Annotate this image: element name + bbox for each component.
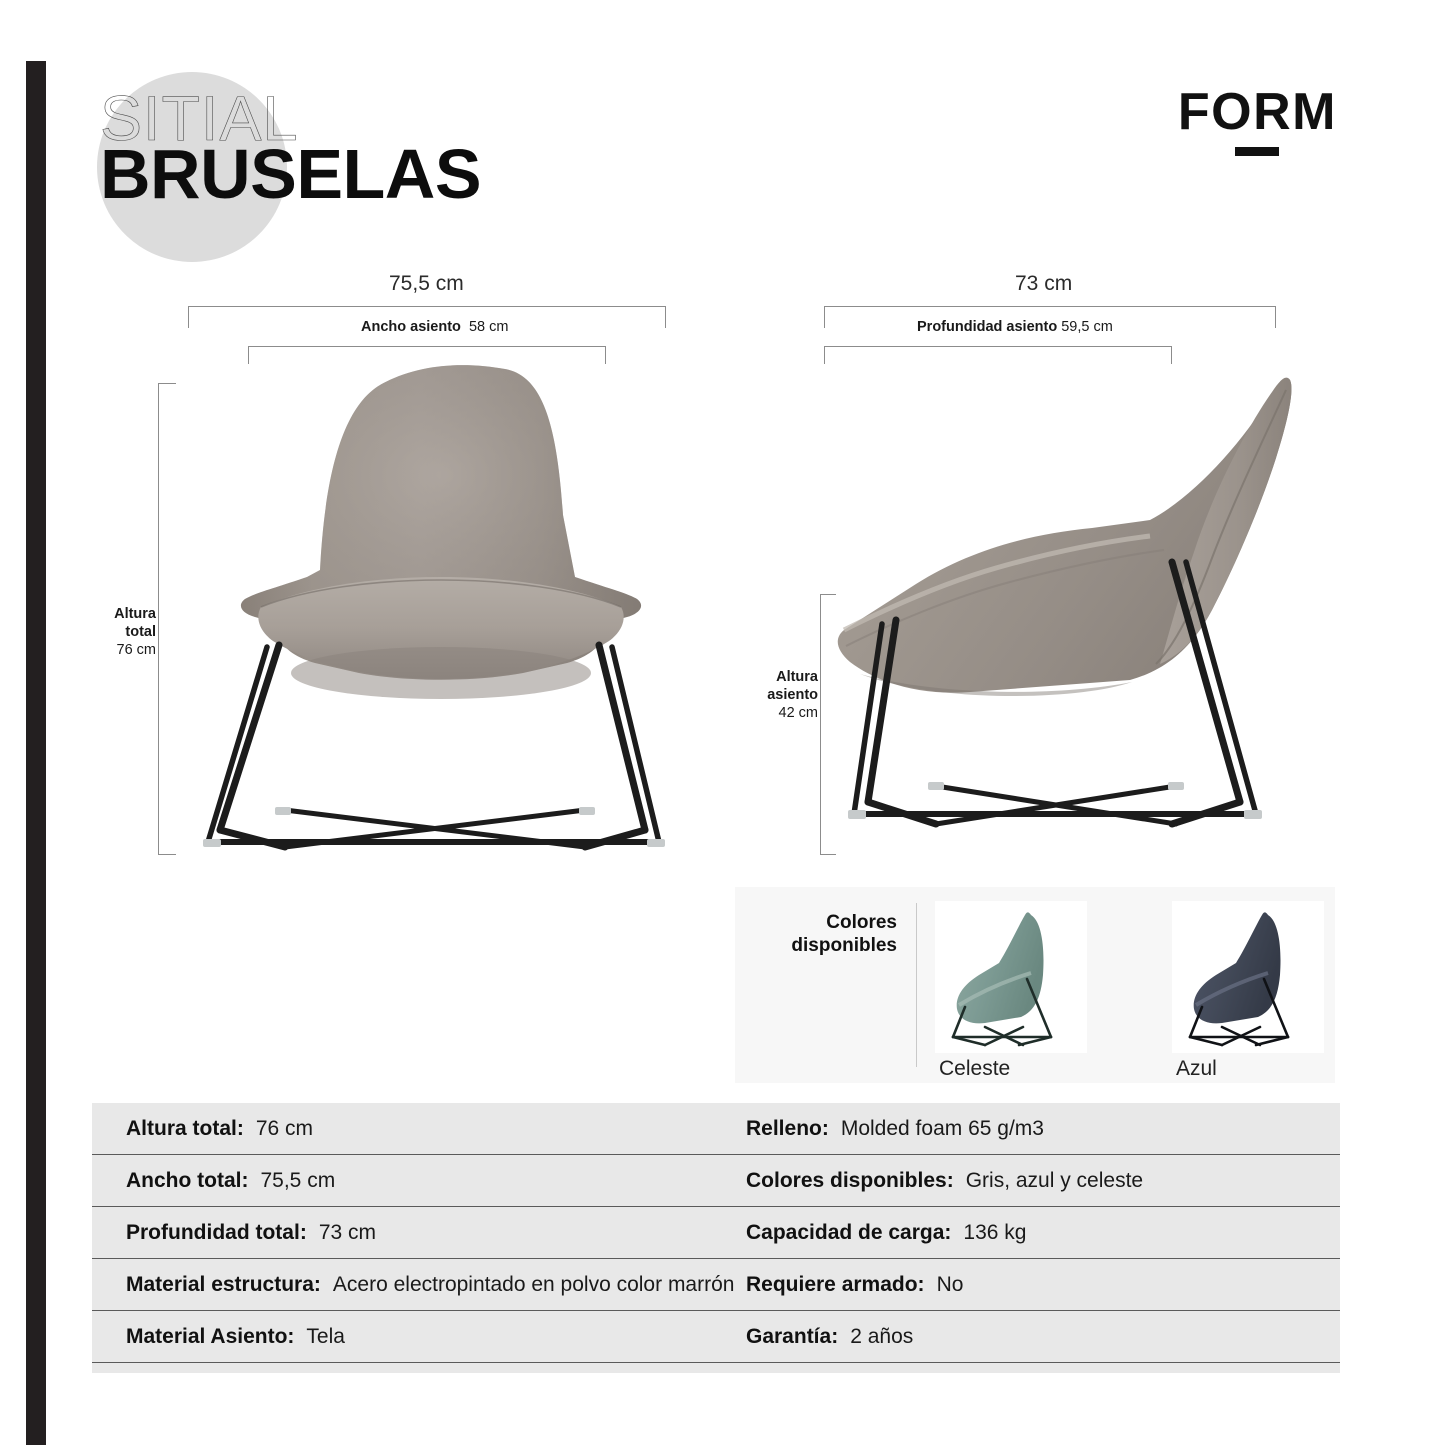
spec-cell-right: Relleno: Molded foam 65 g/m3 (716, 1103, 1340, 1154)
spec-key: Requiere armado: (746, 1273, 925, 1297)
color-swatch-celeste[interactable]: Celeste (935, 901, 1087, 1081)
available-colors-panel: Colores disponibles (735, 887, 1335, 1083)
left-accent-bar (26, 61, 46, 1445)
spec-key: Garantía: (746, 1325, 838, 1349)
front-total-width-label: 75,5 cm (389, 272, 464, 296)
side-total-depth-label: 73 cm (1015, 272, 1072, 296)
celeste-label: Celeste (935, 1057, 1087, 1081)
spec-value: Gris, azul y celeste (966, 1169, 1143, 1193)
page-title: SITIAL BRUSELAS (100, 88, 481, 209)
table-row: Profundidad total: 73 cm Capacidad de ca… (92, 1207, 1340, 1259)
color-swatch-azul[interactable]: Azul (1172, 901, 1324, 1081)
spec-cell-left: Ancho total: 75,5 cm (92, 1155, 716, 1206)
specification-table: Altura total: 76 cm Relleno: Molded foam… (92, 1103, 1340, 1373)
spec-key: Capacidad de carga: (746, 1221, 951, 1245)
product-name-label: BRUSELAS (100, 139, 481, 209)
spec-cell-left: Material Asiento: Tela (92, 1311, 716, 1362)
spec-cell-left: Altura total: 76 cm (92, 1103, 716, 1154)
spec-key: Relleno: (746, 1117, 829, 1141)
spec-value: Tela (306, 1325, 345, 1349)
azul-chair-thumbnail (1172, 901, 1324, 1053)
spec-value: Molded foam 65 g/m3 (841, 1117, 1044, 1141)
celeste-chair-thumbnail (935, 901, 1087, 1053)
spec-value: 2 años (850, 1325, 913, 1349)
table-row: Ancho total: 75,5 cm Colores disponibles… (92, 1155, 1340, 1207)
spec-value: Acero electropintado en polvo color marr… (333, 1273, 735, 1297)
front-chair-illustration (175, 355, 685, 865)
table-bottom-padding (92, 1363, 1340, 1373)
spec-key: Altura total: (126, 1117, 244, 1141)
spec-value: 75,5 cm (260, 1169, 335, 1193)
spec-key: Material Asiento: (126, 1325, 294, 1349)
spec-cell-right: Colores disponibles: Gris, azul y celest… (716, 1155, 1340, 1206)
side-seat-depth-label: Profundidad asiento 59,5 cm (917, 319, 1113, 335)
spec-cell-right: Requiere armado: No (716, 1259, 1340, 1310)
brand-underline-icon (1235, 147, 1279, 156)
front-seat-width-label: Ancho asiento 58 cm (361, 319, 508, 335)
spec-key: Ancho total: (126, 1169, 248, 1193)
spec-cell-right: Capacidad de carga: 136 kg (716, 1207, 1340, 1258)
front-total-height-label: Altura total 76 cm (78, 605, 156, 659)
side-seat-height-label: Altura asiento 42 cm (740, 668, 818, 722)
spec-key: Material estructura: (126, 1273, 321, 1297)
spec-value: 76 cm (256, 1117, 313, 1141)
front-total-height-bracket (158, 383, 176, 855)
table-row: Material Asiento: Tela Garantía: 2 años (92, 1311, 1340, 1363)
table-row: Material estructura: Acero electropintad… (92, 1259, 1340, 1311)
available-colors-title: Colores disponibles (749, 911, 897, 957)
brand-name-label: FORM (1178, 86, 1337, 138)
brand-logo: FORM (1178, 86, 1337, 156)
spec-cell-left: Profundidad total: 73 cm (92, 1207, 716, 1258)
spec-cell-left: Material estructura: Acero electropintad… (92, 1259, 716, 1310)
colors-divider (916, 903, 917, 1067)
spec-key: Colores disponibles: (746, 1169, 954, 1193)
azul-label: Azul (1172, 1057, 1324, 1081)
spec-value: 73 cm (319, 1221, 376, 1245)
spec-key: Profundidad total: (126, 1221, 307, 1245)
spec-value: No (937, 1273, 964, 1297)
table-row: Altura total: 76 cm Relleno: Molded foam… (92, 1103, 1340, 1155)
spec-value: 136 kg (963, 1221, 1026, 1245)
spec-cell-right: Garantía: 2 años (716, 1311, 1340, 1362)
side-chair-illustration (820, 362, 1310, 862)
